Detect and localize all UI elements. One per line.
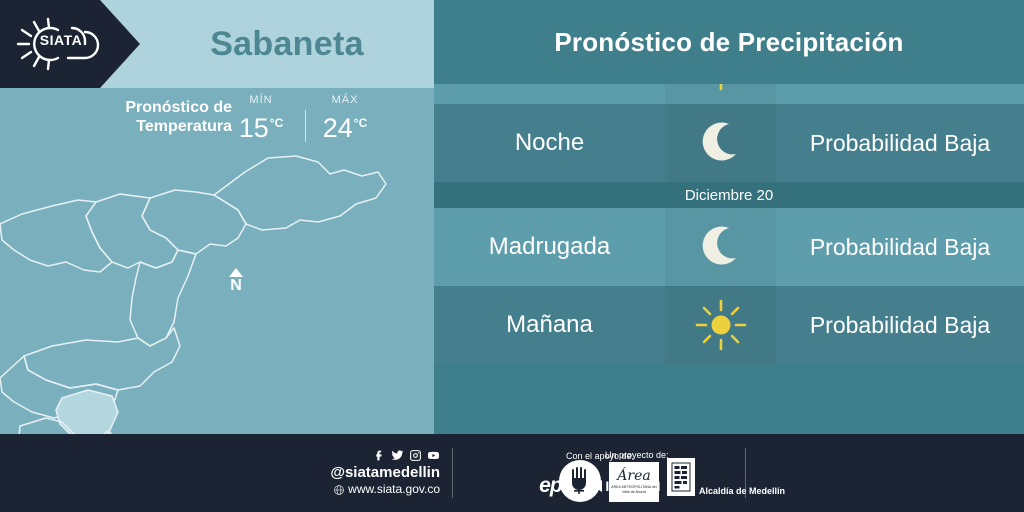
youtube-icon[interactable] (427, 449, 440, 462)
footer: @siatamedellin www.siata.gov.co Con el a… (0, 434, 1024, 512)
probability-label: Probabilidad Baja (776, 104, 1024, 182)
area-metropolitana-logo[interactable]: Área ÁREA METROPOLITANA del Valle de Abu… (609, 462, 659, 502)
temperature-min-unit: °C (270, 116, 283, 130)
weather-forecast-infographic: Sabaneta SIATA (0, 0, 1024, 512)
temperature-min-label: MÍN (228, 92, 294, 108)
temperature-min-value: 15°C (228, 108, 294, 143)
precipitation-header: Pronóstico de Precipitación (434, 0, 1024, 84)
forecast-row[interactable]: Madrugada Probabilidad Baja (434, 208, 1024, 286)
date-label-day2: Diciembre 20 (685, 187, 773, 204)
website-line[interactable]: www.siata.gov.co (300, 482, 440, 497)
aburra-valley-map[interactable]: N (0, 150, 434, 434)
footer-divider (452, 448, 453, 498)
temperature-title: Pronóstico de Temperatura (52, 98, 232, 136)
north-label: N (222, 277, 250, 294)
probability-label: Probabilidad Baja (776, 286, 1024, 364)
temperature-max: MÁX 24°C (312, 92, 378, 143)
moon-icon (698, 120, 744, 166)
left-panel: Sabaneta SIATA (0, 0, 434, 434)
temperature-max-unit: °C (354, 116, 367, 130)
moon-icon (698, 224, 744, 270)
temperature-divider (305, 110, 306, 142)
project-caption: Un proyecto de: (605, 450, 669, 460)
temperature-max-label: MÁX (312, 92, 378, 108)
period-label: Madrugada (434, 208, 665, 286)
social-block: @siatamedellin www.siata.gov.co (300, 448, 440, 497)
temperature-max-value: 24°C (312, 108, 378, 143)
area-logo-script: Área (617, 470, 650, 483)
forecast-row[interactable]: Noche Probabilidad Baja (434, 104, 1024, 182)
sun-icon (694, 298, 748, 352)
social-icons (300, 448, 440, 463)
website-url: www.siata.gov.co (348, 482, 440, 497)
social-handle[interactable]: @siatamedellin (300, 464, 440, 482)
weather-icon-cell (665, 286, 776, 364)
area-metropolitana-seal[interactable] (559, 460, 601, 502)
alcaldia-logo[interactable] (667, 458, 695, 496)
period-label: Noche (434, 104, 665, 182)
globe-icon (333, 484, 345, 496)
facebook-icon[interactable] (373, 449, 386, 462)
weather-icon-cell (665, 104, 776, 182)
north-arrow: N (222, 268, 250, 294)
temperature-values: MÍN 15°C MÁX 24°C (228, 92, 378, 152)
forecast-row[interactable]: Mañana Probabilidad Baja (434, 286, 1024, 364)
area-logo-sub: ÁREA METROPOLITANA del Valle de Aburrá (609, 485, 659, 494)
map-svg (0, 150, 434, 434)
probability-label: Probabilidad Baja (776, 208, 1024, 286)
temperature-title-line1: Pronóstico de (125, 99, 232, 116)
precipitation-title: Pronóstico de Precipitación (554, 27, 903, 58)
alcaldia-mark-icon (671, 462, 691, 492)
north-arrow-icon (229, 268, 243, 277)
weather-icon-cell (665, 208, 776, 286)
seal-hand-icon (567, 466, 593, 496)
alcaldia-label: Alcaldía de Medellín (699, 486, 785, 496)
date-band-day2: Diciembre 20 (434, 182, 1024, 208)
temperature-title-line2: Temperatura (136, 118, 232, 135)
precipitation-panel: Pronóstico de Precipitación Diciembre 19… (434, 0, 1024, 434)
twitter-icon[interactable] (391, 449, 404, 462)
city-name: Sabaneta (140, 0, 434, 88)
instagram-icon[interactable] (409, 449, 422, 462)
siata-logo-text: SIATA (33, 32, 89, 48)
temperature-min: MÍN 15°C (228, 92, 294, 143)
period-label: Mañana (434, 286, 665, 364)
